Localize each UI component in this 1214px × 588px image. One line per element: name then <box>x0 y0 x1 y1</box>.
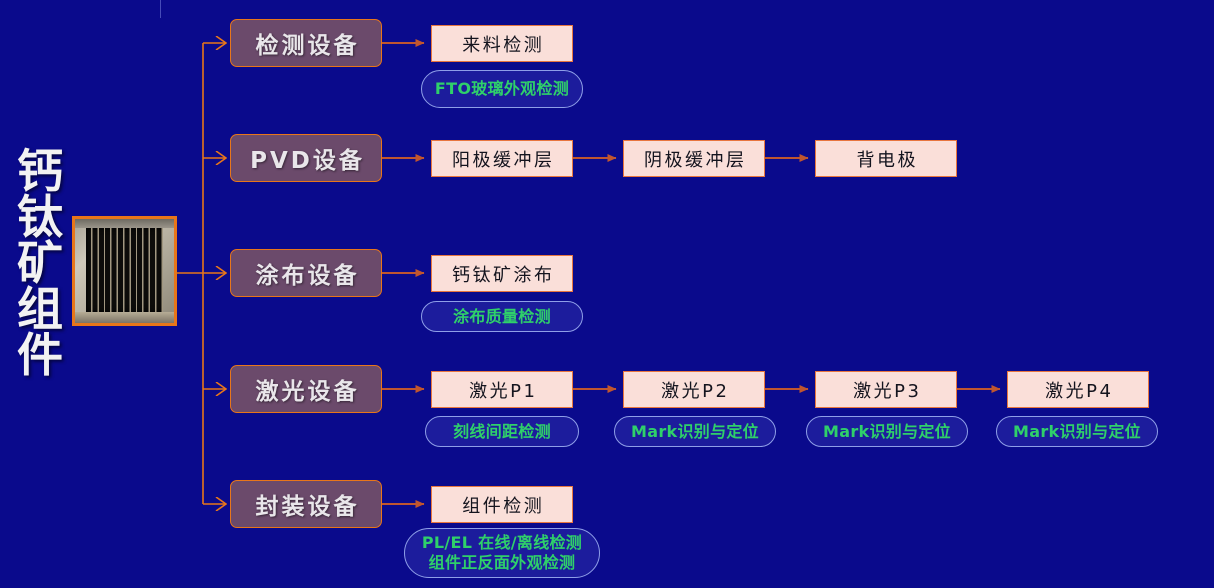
equipment-box-row-3[interactable]: 涂布设备 <box>230 249 382 297</box>
badge-r3-s1: 涂布质量检测 <box>421 301 583 332</box>
process-box-r4-s1[interactable]: 激光P1 <box>431 371 573 408</box>
side-title: 钙 钛 矿 组 件 <box>8 148 72 378</box>
badge-r4-s3: Mark识别与定位 <box>806 416 968 447</box>
process-box-r4-s4[interactable]: 激光P4 <box>1007 371 1149 408</box>
equipment-box-row-4[interactable]: 激光设备 <box>230 365 382 413</box>
badge-line: 涂布质量检测 <box>453 307 551 327</box>
badge-line: PL/EL 在线/离线检测 <box>422 533 582 553</box>
badge-r4-s1: 刻线间距检测 <box>425 416 579 447</box>
badge-r4-s2: Mark识别与定位 <box>614 416 776 447</box>
perovskite-module-photo <box>72 216 177 326</box>
side-title-char: 件 <box>8 332 72 378</box>
badge-line: Mark识别与定位 <box>631 422 759 442</box>
side-title-char: 钛 <box>8 194 72 240</box>
badge-r1-s1: FTO玻璃外观检测 <box>421 70 583 108</box>
badge-line: Mark识别与定位 <box>1013 422 1141 442</box>
badge-line: 刻线间距检测 <box>453 422 551 442</box>
process-box-r3-s1[interactable]: 钙钛矿涂布 <box>431 255 573 292</box>
photo-active-area <box>86 228 163 311</box>
photo-top-edge <box>75 219 174 228</box>
process-box-r5-s1[interactable]: 组件检测 <box>431 486 573 523</box>
equipment-box-row-2[interactable]: PVD设备 <box>230 134 382 182</box>
side-title-char: 组 <box>8 286 72 332</box>
process-box-r4-s2[interactable]: 激光P2 <box>623 371 765 408</box>
side-title-char: 钙 <box>8 148 72 194</box>
process-box-r2-s2[interactable]: 阴极缓冲层 <box>623 140 765 177</box>
process-box-r2-s1[interactable]: 阳极缓冲层 <box>431 140 573 177</box>
equipment-box-row-1[interactable]: 检测设备 <box>230 19 382 67</box>
equipment-box-row-5[interactable]: 封装设备 <box>230 480 382 528</box>
process-box-r2-s3[interactable]: 背电极 <box>815 140 957 177</box>
badge-line: FTO玻璃外观检测 <box>435 79 569 99</box>
badge-line: 组件正反面外观检测 <box>429 553 576 573</box>
badge-r4-s4: Mark识别与定位 <box>996 416 1158 447</box>
flow-diagram-canvas: 钙 钛 矿 组 件 检测设备 来料检测 FTO玻璃外观检测 PVD设备 阳极缓冲… <box>0 0 1214 588</box>
process-box-r4-s3[interactable]: 激光P3 <box>815 371 957 408</box>
badge-r5-s1: PL/EL 在线/离线检测 组件正反面外观检测 <box>404 528 600 578</box>
photo-bottom-edge <box>75 312 174 323</box>
badge-line: Mark识别与定位 <box>823 422 951 442</box>
photo-scribe-lines <box>86 228 163 311</box>
side-title-char: 矿 <box>8 240 72 286</box>
connector-lines <box>0 0 1214 588</box>
process-box-r1-s1[interactable]: 来料检测 <box>431 25 573 62</box>
top-artifact-line <box>160 0 161 18</box>
